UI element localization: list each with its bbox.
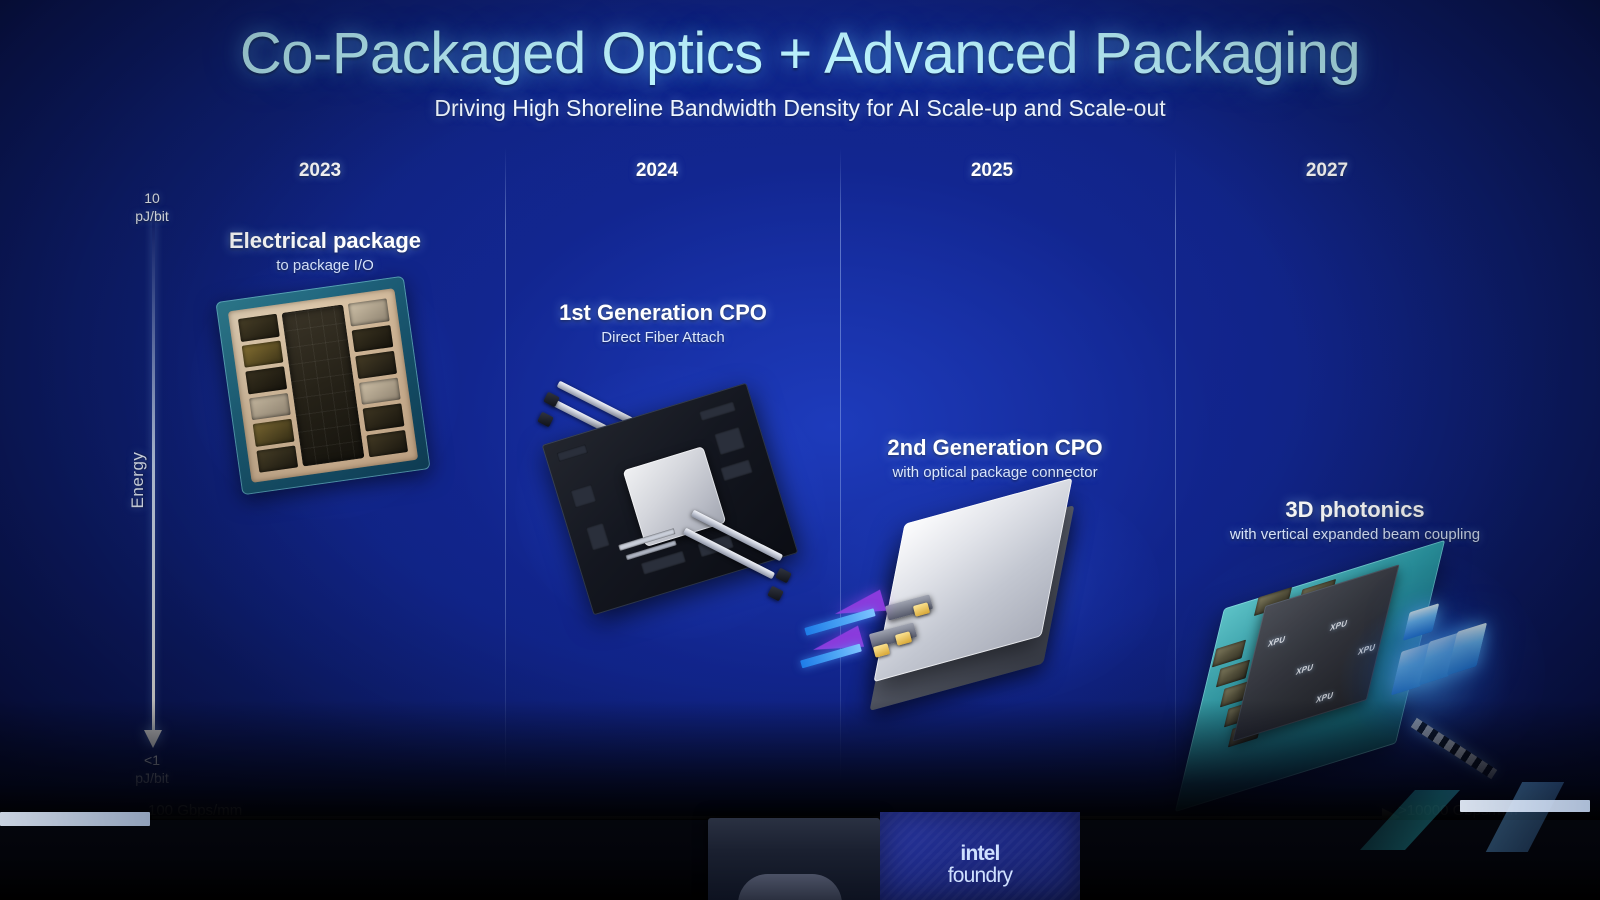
stage-label-2025: 2nd Generation CPO with optical package … (887, 435, 1102, 481)
art-3d-photonics: XPU XPU XPU XPU XPU (1190, 565, 1500, 795)
optical-waveguide (1411, 718, 1498, 780)
photonic-engine (1447, 622, 1487, 675)
column-divider-1 (505, 148, 506, 788)
slide-canvas: Co-Packaged Optics + Advanced Packaging … (0, 0, 1600, 820)
die-cell (253, 419, 295, 447)
column-divider-3 (1175, 148, 1176, 788)
board-component (720, 459, 753, 481)
stage-title-2025: 2nd Generation CPO (887, 435, 1102, 461)
stage-label-2023: Electrical package to package I/O (229, 228, 421, 274)
board-component (586, 523, 610, 551)
die-cell (355, 351, 397, 379)
energy-axis-bottom-cap: <1 pJ/bit (92, 752, 212, 787)
die-cell (362, 403, 404, 431)
stage-label-2024: 1st Generation CPO Direct Fiber Attach (559, 300, 767, 346)
die-cell (245, 366, 287, 394)
year-label-2023: 2023 (299, 160, 341, 182)
stage-title-2024: 1st Generation CPO (559, 300, 767, 326)
board-component (714, 427, 745, 456)
bandwidth-axis-left-value: 100 Gbps/mm (148, 802, 242, 819)
art-cpo-gen2 (840, 500, 1140, 680)
energy-bottom-unit: pJ/bit (92, 770, 212, 788)
die-cell (351, 325, 393, 353)
year-label-2024: 2024 (636, 160, 678, 182)
stage-subtitle-2023: to package I/O (229, 257, 421, 274)
board-component (641, 551, 687, 575)
stage-title-2027: 3D photonics (1230, 497, 1480, 523)
fiber-connector (775, 568, 792, 584)
art-electrical-package (215, 276, 430, 496)
stage-label-2027: 3D photonics with vertical expanded beam… (1230, 497, 1480, 543)
board-component (699, 401, 736, 421)
stage-edge-right (1460, 800, 1590, 812)
energy-axis-label: Energy (128, 420, 148, 540)
energy-top-unit: pJ/bit (92, 208, 212, 226)
slide-title: Co-Packaged Optics + Advanced Packaging (0, 20, 1600, 87)
stage-edge-left (0, 812, 150, 826)
stage-subtitle-2024: Direct Fiber Attach (559, 329, 767, 346)
fiber-connector (767, 586, 784, 602)
die-cell (249, 392, 291, 420)
column-divider-2 (840, 148, 841, 788)
die-cell (347, 298, 389, 326)
board-component (570, 484, 596, 508)
die-cell (238, 314, 280, 342)
slide-subtitle: Driving High Shoreline Bandwidth Density… (0, 95, 1600, 122)
energy-axis-arrow-icon (144, 730, 162, 748)
intel-foundry-logo-panel: intel foundry (880, 812, 1080, 900)
stage-title-2023: Electrical package (229, 228, 421, 254)
podium (708, 818, 880, 900)
year-label-2025: 2025 (971, 160, 1013, 182)
logo-line-intel: intel (880, 842, 1080, 866)
year-label-2027: 2027 (1306, 160, 1348, 182)
logo-line-foundry: foundry (880, 864, 1080, 888)
energy-axis-top-cap: 10 pJ/bit (92, 190, 212, 225)
energy-axis-line (152, 212, 155, 737)
fiber-connector (537, 412, 554, 428)
die-cell (242, 340, 284, 368)
presentation-screenshot: Co-Packaged Optics + Advanced Packaging … (0, 0, 1600, 900)
energy-top-value: 10 (92, 190, 212, 208)
board-component (557, 444, 588, 461)
energy-bottom-value: <1 (92, 752, 212, 770)
art-cpo-gen1 (545, 392, 795, 607)
die-cell (358, 377, 400, 405)
package-die-grid (238, 298, 408, 472)
presenter-silhouette (738, 874, 842, 900)
